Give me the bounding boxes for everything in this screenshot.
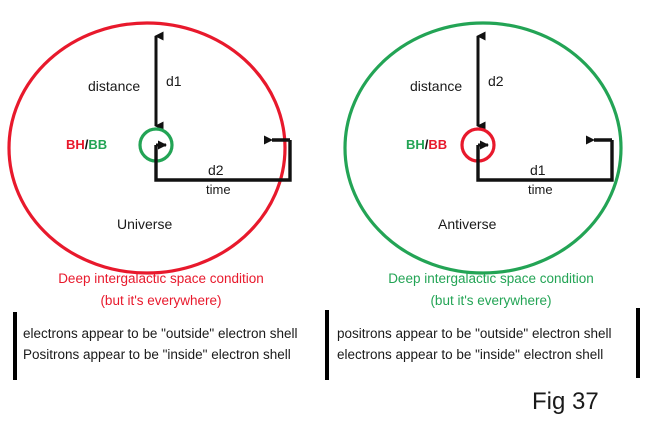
- right-bb-text: BB: [428, 137, 447, 152]
- left-universe-name: Universe: [117, 217, 172, 231]
- right-time-label: time: [528, 183, 553, 196]
- left-bb-text: BB: [88, 137, 107, 152]
- right-antiverse-circle: [345, 23, 621, 273]
- left-universe-circle-group: [9, 23, 285, 273]
- right-antiverse-name: Antiverse: [438, 217, 496, 231]
- left-statement-2: Positrons appear to be "inside" electron…: [23, 348, 291, 362]
- figure-caption: Fig 37: [532, 390, 599, 414]
- right-condition-line-1: Deep intergalactic space condition: [330, 272, 652, 286]
- left-bh-text: BH: [66, 137, 85, 152]
- right-bracket-end: [636, 308, 640, 378]
- right-bh-bb-label: BH/BB: [406, 138, 447, 151]
- left-bh-bb-label: BH/BB: [66, 138, 107, 151]
- left-time-label: time: [206, 183, 231, 196]
- right-time-value: d1: [530, 163, 546, 177]
- right-distance-label: distance: [410, 79, 462, 93]
- right-statement-1: positrons appear to be "outside" electro…: [337, 327, 612, 341]
- right-antiverse-circle-group: [345, 23, 621, 273]
- left-bracket-start: [13, 312, 17, 380]
- left-condition-line-2: (but it's everywhere): [0, 294, 322, 308]
- center-bracket-divider: [325, 310, 329, 380]
- right-distance-value: d2: [488, 74, 504, 88]
- left-time-value: d2: [208, 163, 224, 177]
- left-condition-line-1: Deep intergalactic space condition: [0, 272, 322, 286]
- right-condition-line-2: (but it's everywhere): [330, 294, 652, 308]
- right-statement-2: electrons appear to be "inside" electron…: [337, 348, 603, 362]
- right-bh-text: BH: [406, 137, 425, 152]
- figure-canvas: distance d1 BH/BB d2 time Universe Deep …: [0, 0, 653, 425]
- left-distance-value: d1: [166, 74, 182, 88]
- left-statement-1: electrons appear to be "outside" electro…: [23, 327, 298, 341]
- left-universe-circle: [9, 23, 285, 273]
- left-distance-label: distance: [88, 79, 140, 93]
